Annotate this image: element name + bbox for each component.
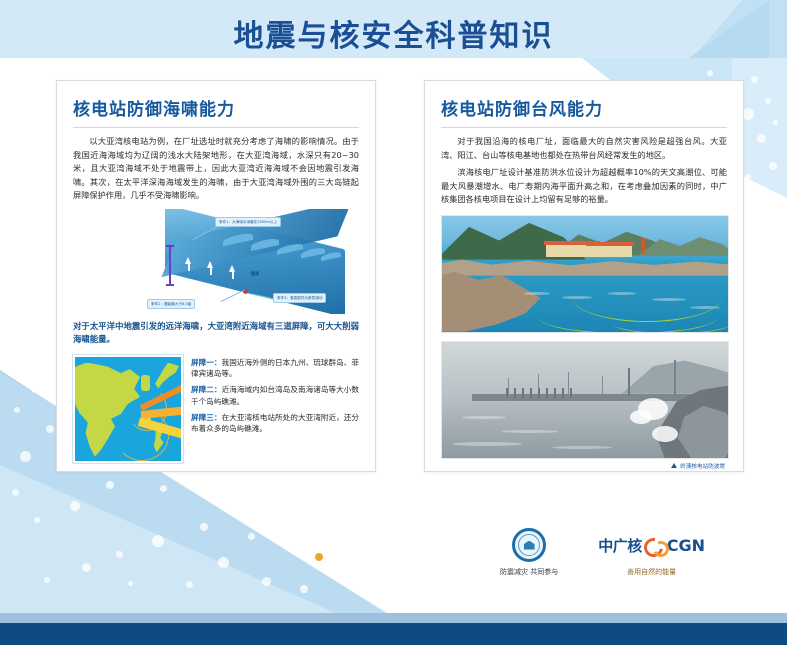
storm-waves-photo [441, 341, 729, 459]
logo-earthquake-bureau: 防震减灾 共同参与 [500, 528, 558, 577]
east-asia-map [73, 355, 183, 463]
diagram-uplift-arrow [185, 257, 191, 264]
barrier-sep: ： [214, 358, 222, 367]
photo-wave-spray [652, 426, 678, 442]
diagram-uplift-arrow [207, 261, 213, 268]
diagram-label-condition-1: 条件1：大海域水深最在1000m以上 [215, 217, 281, 227]
photo-sea-foam [502, 430, 558, 433]
right-card-title-divider [441, 127, 727, 128]
card-tsunami-defense: 核电站防御海啸能力 以大亚湾核电站为例，在厂址选址时就充分考虑了海啸的影响情况。… [56, 80, 376, 472]
barrier-item: 屏障一：我国近海外侧的日本九州、琉球群岛、菲律宾诸岛等。 [191, 357, 359, 381]
diagram-depth-bar [169, 245, 171, 285]
diagram-epicenter-label: 震源 [251, 271, 259, 277]
right-card-paragraph-2: 滨海核电厂址设计基准防洪水位设计为超越概率10%的天文高潮位、可能最大风暴潮增水… [441, 166, 727, 207]
poster-page: 地震与核安全科普知识 [0, 0, 787, 645]
page-header: 地震与核安全科普知识 [0, 0, 787, 58]
photo-building-b-roof [586, 242, 634, 246]
left-card-paragraph-1: 以大亚湾核电站为例，在厂址选址时就充分考虑了海啸的影响情况。由于我国近海海域均为… [73, 135, 359, 203]
card-typhoon-defense: 核电站防御台风能力 对于我国沿海的核电厂址，面临最大的自然灾害风险是超强台风。大… [424, 80, 744, 472]
photo-pole [602, 376, 603, 396]
diagram-depth-cap-bottom [166, 284, 174, 286]
page-title: 地震与核安全科普知识 [0, 11, 787, 55]
photo-mountains-right [638, 236, 729, 256]
barrier-sep: ： [214, 385, 222, 394]
cgn-swirl-icon [644, 537, 665, 554]
photo-sea-foam [452, 442, 522, 446]
right-card-title: 核电站防御台风能力 [441, 95, 727, 120]
cgn-tagline: 善用自然的能量 [627, 567, 676, 577]
logo-row: 防震减灾 共同参与 中广核 CGN 善用自然的能量 [500, 528, 745, 590]
cgn-wordmark: 中广核 CGN [598, 528, 705, 562]
triangle-bullet-icon [671, 463, 677, 468]
photo-piles [506, 388, 574, 398]
diagram-label-condition-2: 条件2：震级最大于8.5级 [147, 299, 195, 309]
barrier-list: 屏障一：我国近海外侧的日本九州、琉球群岛、菲律宾诸岛等。 屏障二：近海海域内如台… [191, 355, 359, 463]
barrier-item: 屏障二：近海海域内如台湾岛及南海诸岛等大小数千个岛屿礁滩。 [191, 384, 359, 408]
storm-photo-caption: 岭澳核电站防波堤 [441, 462, 727, 470]
barrier-item: 屏障三：在大亚湾核电站所处的大亚湾附近，还分布着众多的岛屿礁滩。 [191, 412, 359, 436]
accent-dot-bottom-left [315, 553, 323, 561]
house-icon [524, 541, 535, 550]
photo-chimney [642, 238, 645, 254]
diagram-leader-line-bl [221, 289, 245, 301]
harbor-breakwater-photo [441, 215, 729, 333]
left-card-title-divider [73, 127, 359, 128]
seal-inner-ring [518, 534, 540, 556]
right-card-paragraph-1: 对于我国沿海的核电厂址，面临最大的自然灾害风险是超强台风。大亚湾、阳江、台山等核… [441, 135, 727, 162]
barrier-label: 屏障三 [191, 413, 214, 422]
photo-building-b [588, 245, 632, 257]
diagram-depth-cap-top [166, 245, 174, 247]
logo-cgn: 中广核 CGN 善用自然的能量 [598, 528, 705, 577]
barrier-label: 屏障二 [191, 385, 214, 394]
photo-sea-foam [552, 446, 612, 449]
diagram-uplift-arrow-stem [232, 272, 234, 279]
earthquake-bureau-tagline: 防震减灾 共同参与 [500, 567, 558, 577]
footer-navy-bar [0, 623, 787, 645]
barrier-label: 屏障一 [191, 358, 214, 367]
diagram-uplift-arrow-stem [210, 268, 212, 275]
barrier-section: 屏障一：我国近海外侧的日本九州、琉球群岛、菲律宾诸岛等。 屏障二：近海海域内如台… [73, 355, 359, 463]
diagram-uplift-arrow-stem [188, 264, 190, 271]
cgn-chinese-name: 中广核 [598, 535, 642, 556]
left-card-title: 核电站防御海啸能力 [73, 95, 359, 120]
photo-sea-foam [462, 416, 506, 419]
diagram-uplift-arrow [229, 265, 235, 272]
photo-water-foam [524, 292, 550, 295]
cgn-english-name: CGN [667, 536, 705, 555]
footer-light-strip [0, 613, 787, 623]
tsunami-diagram: 震源 条件1：大海域水深最在1000m以上 条件2：震级最大于8.5级 条件3：… [73, 209, 361, 314]
left-card-highlight: 对于太平洋中地震引发的远洋海啸，大亚湾附近海域有三道屏障，可大大削弱海啸能量。 [73, 320, 359, 347]
barrier-sep: ： [214, 413, 222, 422]
decor-triangle-5 [0, 465, 340, 615]
photo-crane [628, 368, 630, 396]
earthquake-bureau-seal-icon [512, 528, 546, 562]
photo-grass-blade [612, 312, 729, 333]
storm-photo-caption-text: 岭澳核电站防波堤 [680, 462, 725, 470]
photo-wave-spray [630, 410, 652, 424]
diagram-label-condition-3: 条件3：垂直剧烈为断层错动 [273, 293, 326, 303]
photo-tower [674, 360, 676, 396]
